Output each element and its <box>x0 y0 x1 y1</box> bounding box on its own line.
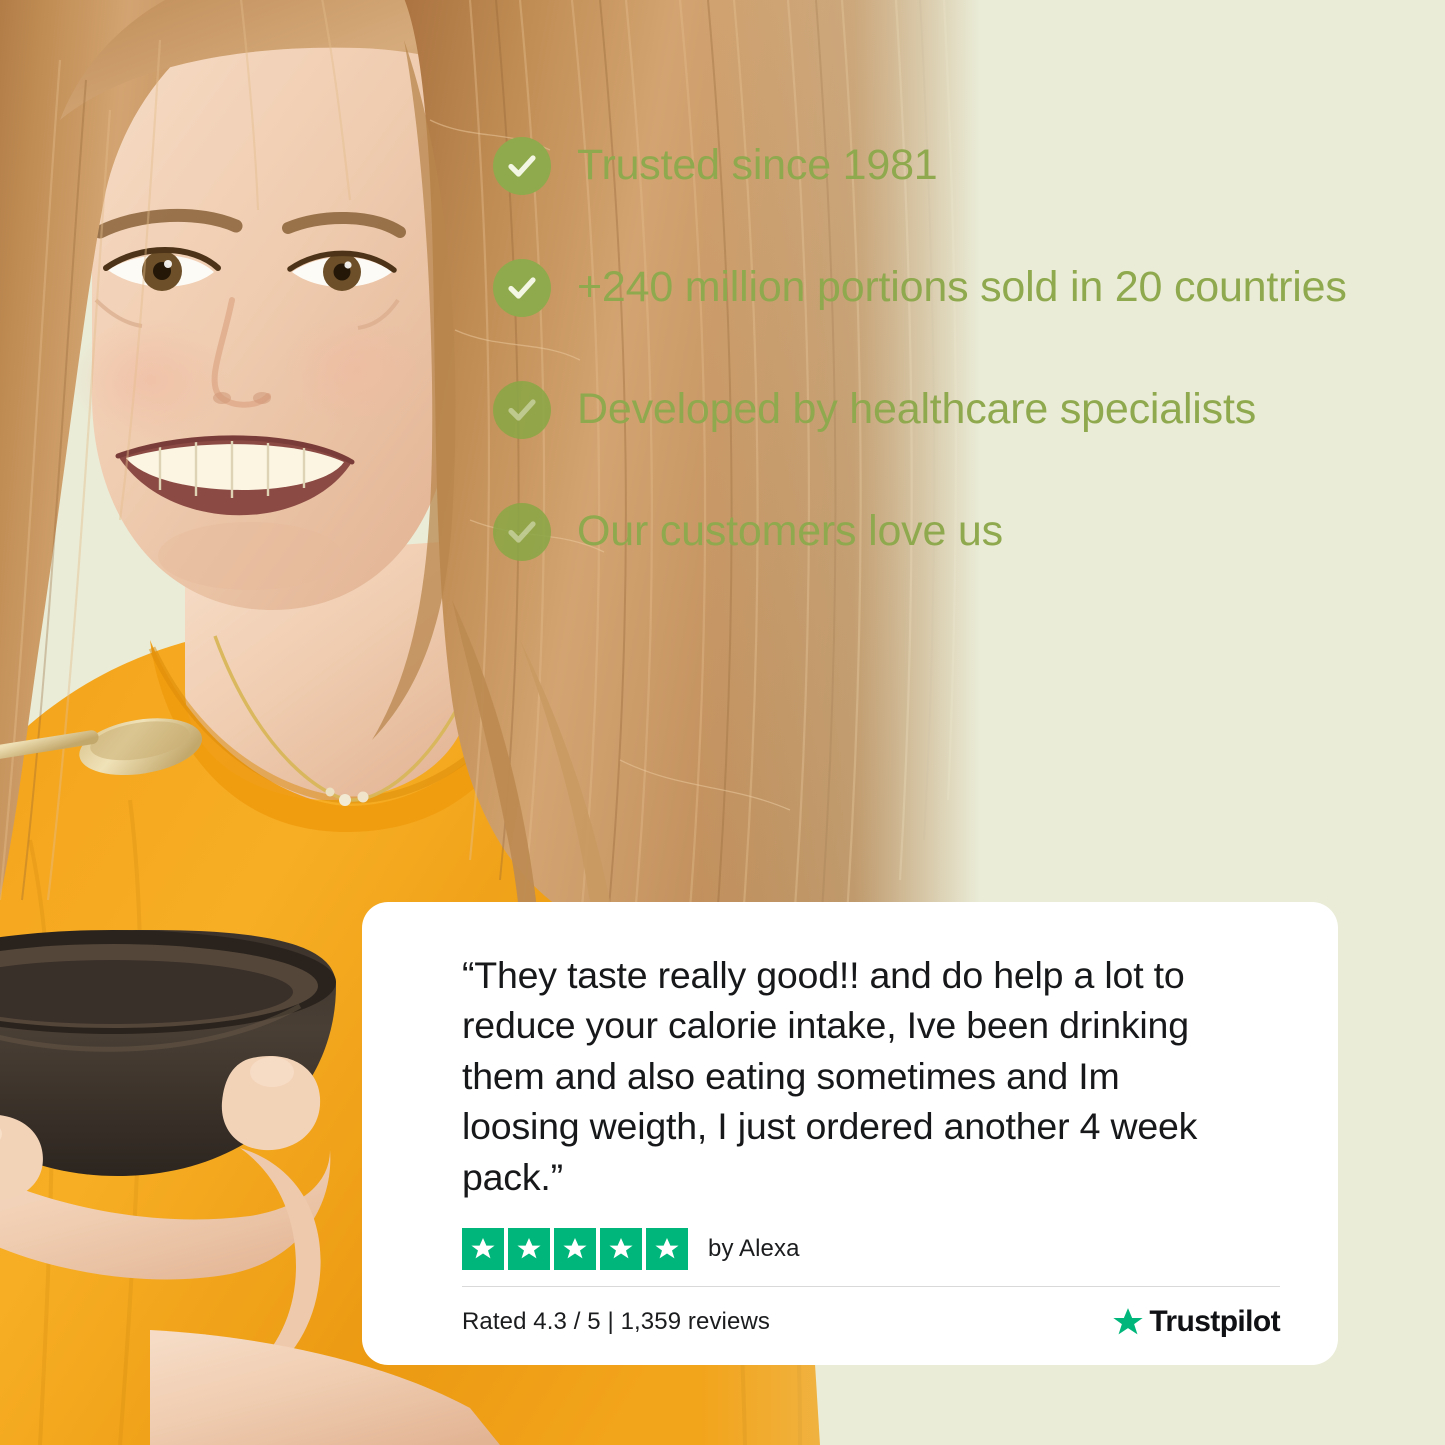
star-icon <box>646 1228 688 1270</box>
check-circle-icon <box>493 503 551 561</box>
trustpilot-logo: Trustpilot <box>1112 1305 1280 1339</box>
star-rating <box>462 1228 688 1270</box>
promo-banner: Trusted since 1981 +240 million portions… <box>0 0 1445 1445</box>
reviewer-name: by Alexa <box>708 1235 800 1263</box>
check-circle-icon <box>493 381 551 439</box>
review-quote: “They taste really good!! and do help a … <box>462 950 1222 1202</box>
trustpilot-star-icon <box>1112 1306 1144 1338</box>
star-icon <box>462 1228 504 1270</box>
star-icon <box>600 1228 642 1270</box>
benefit-item-4: Our customers love us <box>493 484 1423 580</box>
rating-summary: Rated 4.3 / 5 | 1,359 reviews <box>462 1308 770 1336</box>
benefit-label: Developed by healthcare specialists <box>577 387 1256 432</box>
star-icon <box>508 1228 550 1270</box>
benefit-item-2: +240 million portions sold in 20 countri… <box>493 240 1423 336</box>
benefit-label: +240 million portions sold in 20 countri… <box>577 265 1347 310</box>
card-divider <box>462 1286 1280 1287</box>
check-circle-icon <box>493 137 551 195</box>
rating-row: by Alexa <box>462 1228 1280 1270</box>
benefits-list: Trusted since 1981 +240 million portions… <box>493 118 1423 606</box>
star-icon <box>554 1228 596 1270</box>
check-circle-icon <box>493 259 551 317</box>
benefit-item-1: Trusted since 1981 <box>493 118 1423 214</box>
trustpilot-wordmark: Trustpilot <box>1149 1305 1280 1339</box>
benefit-label: Trusted since 1981 <box>577 143 938 188</box>
benefit-item-3: Developed by healthcare specialists <box>493 362 1423 458</box>
trustpilot-review-card: “They taste really good!! and do help a … <box>362 902 1338 1365</box>
card-footer: Rated 4.3 / 5 | 1,359 reviews Trustpilot <box>462 1299 1280 1345</box>
benefit-label: Our customers love us <box>577 509 1003 554</box>
